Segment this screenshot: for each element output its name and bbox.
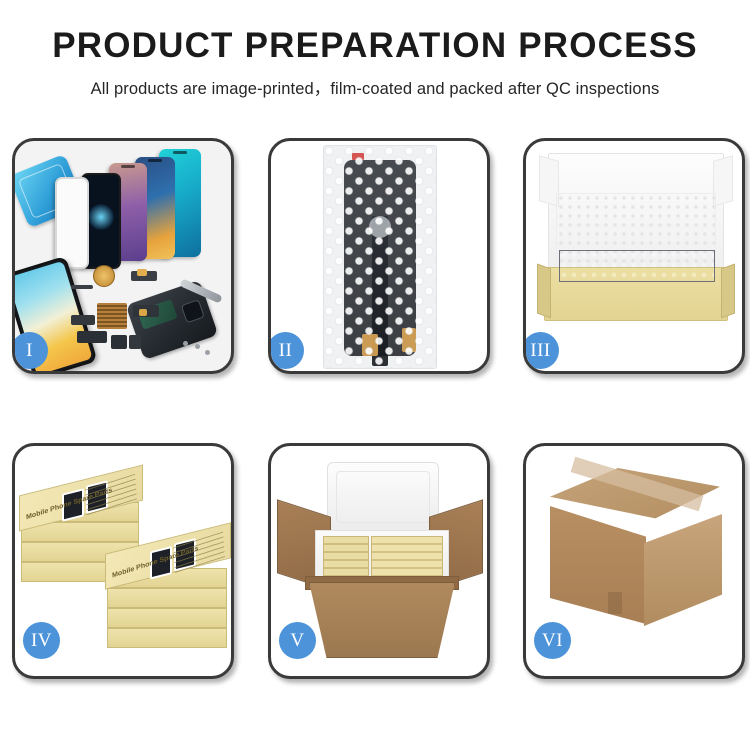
step-badge-5: V bbox=[279, 622, 316, 659]
page-subtitle: All products are image-printed，film-coat… bbox=[0, 75, 750, 99]
phone-screen-white bbox=[55, 177, 89, 269]
phone-screen-fan bbox=[51, 147, 231, 267]
copper-coil-part bbox=[93, 265, 115, 287]
connector-grid-part bbox=[97, 303, 127, 329]
bubble-wrap-bag bbox=[323, 145, 437, 369]
flex-cable-part bbox=[77, 331, 107, 343]
yellow-box-tray bbox=[544, 267, 728, 321]
step-photo-2 bbox=[271, 141, 487, 371]
carton-front-panel bbox=[309, 582, 455, 658]
retail-box-side bbox=[107, 588, 227, 608]
step-card-5: V bbox=[268, 443, 484, 673]
step-photo-frame-2: II bbox=[268, 138, 490, 374]
step-card-6: VI bbox=[523, 443, 739, 673]
step-photo-frame-6: VI bbox=[523, 443, 745, 679]
small-component-part bbox=[111, 335, 127, 349]
step-photo-frame-5: V bbox=[268, 443, 490, 679]
flex-cable-part bbox=[71, 285, 93, 289]
step-photo-frame-3: III bbox=[523, 138, 745, 374]
step-photo-frame-4: Mobile Phone Spare Parts Mobile Phone Sp… bbox=[12, 443, 234, 679]
page-title: PRODUCT PREPARATION PROCESS bbox=[0, 28, 750, 65]
yellow-boxes-right-group bbox=[371, 536, 443, 580]
header: PRODUCT PREPARATION PROCESS All products… bbox=[0, 0, 750, 99]
flex-cable-part bbox=[71, 315, 95, 325]
step-card-3: III bbox=[523, 138, 739, 368]
step-card-1: I bbox=[12, 138, 228, 368]
repair-tool bbox=[179, 278, 222, 303]
gold-contact-part bbox=[137, 269, 147, 276]
yellow-boxes-left-group bbox=[323, 536, 369, 580]
step-badge-6: VI bbox=[534, 622, 571, 659]
spare-parts-cluster bbox=[71, 265, 221, 369]
retail-box-side bbox=[107, 628, 227, 648]
product-preparation-infographic: PRODUCT PREPARATION PROCESS All products… bbox=[0, 0, 750, 750]
bubble-texture bbox=[324, 146, 436, 368]
step-badge-1: I bbox=[12, 332, 48, 369]
step-photo-frame-1: I bbox=[12, 138, 234, 374]
step-photo-3 bbox=[526, 141, 742, 371]
gold-contact-part bbox=[139, 309, 147, 316]
foam-cooler-lid bbox=[327, 462, 439, 532]
step-card-2: II bbox=[268, 138, 484, 368]
carton-front-face bbox=[550, 506, 646, 624]
step-badge-2: II bbox=[268, 332, 304, 369]
gray-bubble-wrapped-item bbox=[559, 250, 715, 282]
step-badge-4: IV bbox=[23, 622, 60, 659]
step-badge-3: III bbox=[523, 332, 559, 369]
step-photo-1 bbox=[15, 141, 231, 371]
retail-box-side bbox=[107, 608, 227, 628]
process-steps-grid: I II bbox=[12, 138, 745, 683]
step-card-4: Mobile Phone Spare Parts Mobile Phone Sp… bbox=[12, 443, 228, 673]
screws-group bbox=[183, 341, 213, 357]
carton-side-face bbox=[644, 514, 722, 626]
small-component-part bbox=[129, 335, 141, 349]
